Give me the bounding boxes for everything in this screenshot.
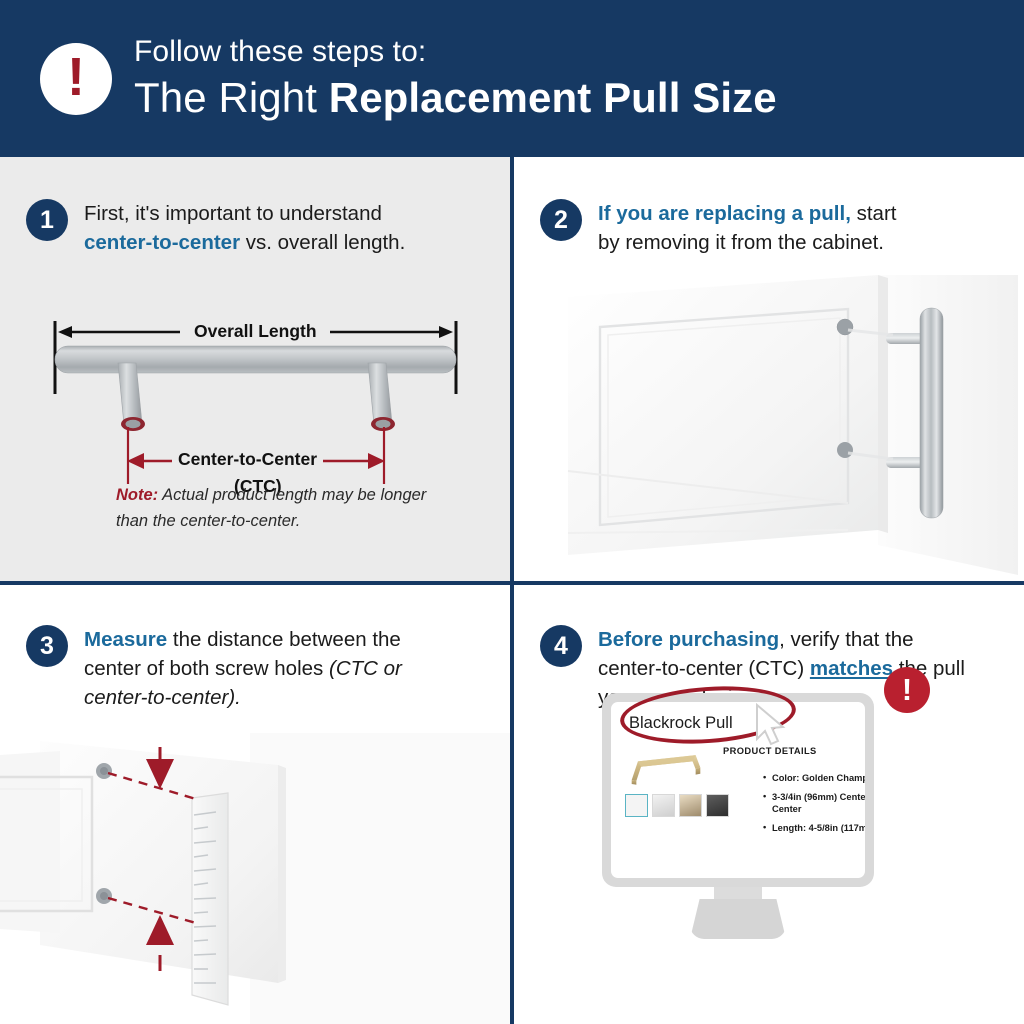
matches-link[interactable]: matches (810, 657, 893, 680)
product-detail-length: Length: 4-5/8in (117mm) (763, 823, 865, 835)
ctc-label: Center-to-Center (172, 449, 323, 470)
step-panel-2: 2 If you are replacing a pull, start by … (514, 157, 1024, 581)
step-2-text-a: If you are replacing a pull, (598, 202, 851, 225)
header-eyebrow: Follow these steps to: (134, 34, 777, 69)
step-3-text-a: Measure (84, 628, 167, 651)
step-3-text: Measure the distance between the center … (84, 625, 414, 712)
note-text: Actual product length may be longer than… (116, 486, 426, 530)
product-detail-color: Color: Golden Champagne (763, 773, 865, 785)
pull-dimension-diagram: Overall Length Center-to-Center (CTC) (0, 299, 510, 479)
step-1-badge: 1 (26, 199, 68, 241)
header-title: The Right Replacement Pull Size (134, 73, 777, 123)
measure-screw-holes-art (0, 733, 510, 1024)
header-banner: ! Follow these steps to: The Right Repla… (0, 0, 1024, 157)
step-3-badge: 3 (26, 625, 68, 667)
vertical-divider (510, 157, 514, 1024)
product-thumbnail-row[interactable] (625, 794, 729, 817)
monitor-stand-neck (714, 887, 762, 901)
product-thumbnail-2[interactable] (652, 794, 675, 817)
step-panel-3: 3 Measure the distance between the cente… (0, 585, 510, 1024)
step-panel-1: 1 First, it's important to understand ce… (0, 157, 510, 581)
step-panel-4: 4 Before purchasing, verify that the cen… (514, 585, 1024, 1024)
step-1-header: 1 First, it's important to understand ce… (26, 199, 436, 257)
header-title-bold: Replacement Pull Size (329, 74, 777, 121)
step-3-header: 3 Measure the distance between the cente… (26, 625, 414, 712)
step-2-text: If you are replacing a pull, start by re… (598, 199, 918, 257)
overall-length-label: Overall Length (186, 321, 325, 342)
product-thumbnail-1[interactable] (625, 794, 648, 817)
horizontal-divider (0, 581, 1024, 585)
header-text-block: Follow these steps to: The Right Replace… (134, 34, 777, 124)
exclamation-glyph: ! (67, 50, 85, 104)
cabinet-door-bar-pull-art (548, 275, 1018, 575)
infographic-page: ! Follow these steps to: The Right Repla… (0, 0, 1024, 1024)
product-thumbnail-3[interactable] (679, 794, 702, 817)
step-2-header: 2 If you are replacing a pull, start by … (540, 199, 918, 257)
step-1-text-a: First, it's important to understand (84, 202, 382, 225)
alert-exclamation-icon: ! (884, 667, 930, 713)
exclamation-icon: ! (40, 43, 112, 115)
header-title-light: The Right (134, 74, 329, 121)
step-4-text-a: Before purchasing (598, 628, 779, 651)
steps-grid: 1 First, it's important to understand ce… (0, 157, 1024, 1024)
mouse-pointer-icon (754, 703, 788, 747)
step-1-text-c: vs. overall length. (240, 231, 405, 254)
note-label: Note: (116, 486, 158, 504)
alert-exclamation-glyph: ! (902, 674, 912, 705)
step-1-text: First, it's important to understand cent… (84, 199, 436, 257)
step-1-text-b: center-to-center (84, 231, 240, 254)
step-4-badge: 4 (540, 625, 582, 667)
monitor-stand-base (690, 899, 786, 939)
product-image-pull (627, 744, 705, 788)
product-details-heading: PRODUCT DETAILS (723, 746, 817, 756)
step-2-badge: 2 (540, 199, 582, 241)
product-detail-ctc: 3-3/4in (96mm) Center-to-Center (763, 792, 865, 816)
step-1-note: Note: Actual product length may be longe… (116, 482, 456, 535)
product-details-list: Color: Golden Champagne 3-3/4in (96mm) C… (723, 773, 865, 842)
